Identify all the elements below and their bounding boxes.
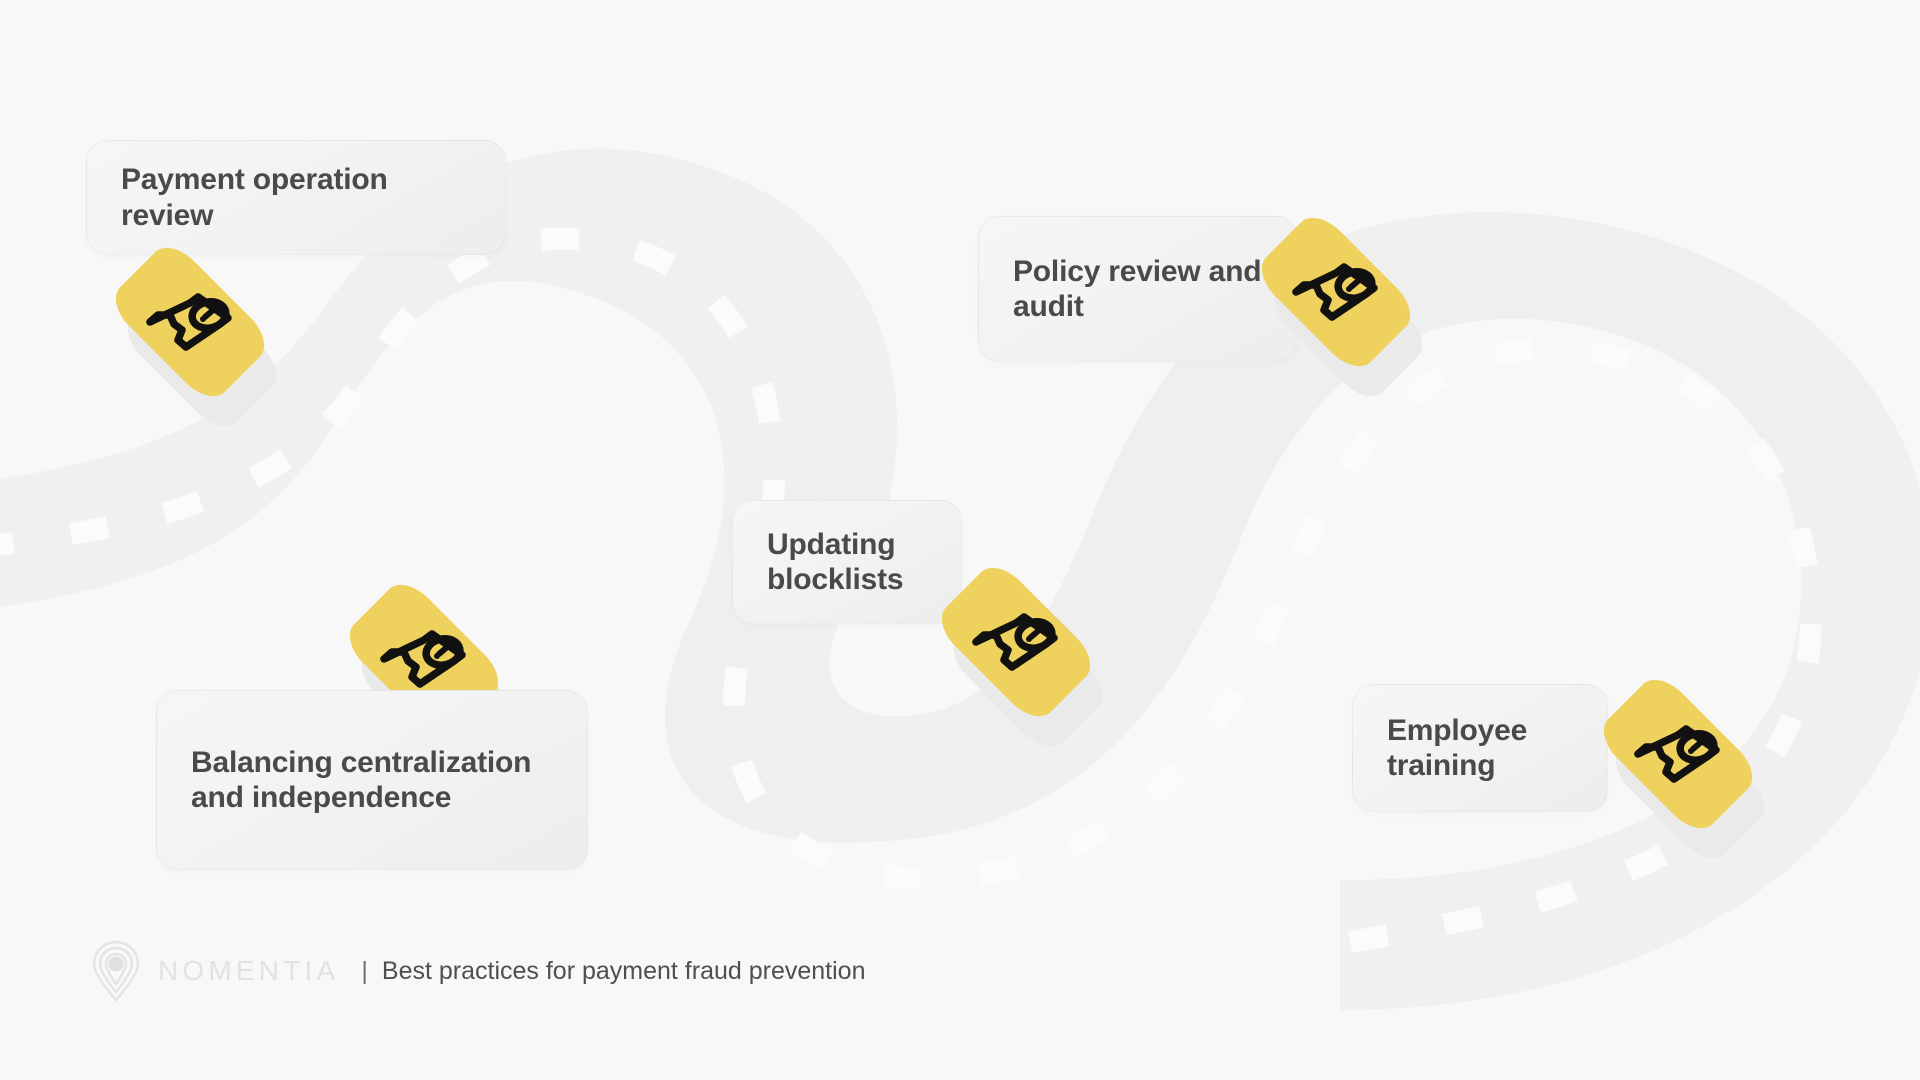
- brand-wordmark: NOMENTIA: [158, 955, 339, 987]
- step-label: Balancing centralization and independenc…: [191, 745, 553, 816]
- step-label: Updating blocklists: [767, 527, 927, 598]
- step-card[interactable]: Payment operation review: [86, 140, 506, 255]
- step-label: Payment operation review: [121, 162, 471, 233]
- footer-separator: |: [361, 957, 368, 986]
- footer-bar: NOMENTIA | Best practices for payment fr…: [88, 938, 865, 1004]
- map-review-glyph: [942, 568, 1090, 716]
- map-review-icon[interactable]: [116, 248, 264, 396]
- step-card[interactable]: Updating blocklists: [732, 500, 962, 624]
- nomentia-pin-logo-icon: [88, 938, 144, 1004]
- step-card[interactable]: Balancing centralization and independenc…: [156, 690, 588, 870]
- step-label: Policy review and audit: [1013, 254, 1263, 325]
- map-review-icon[interactable]: [942, 568, 1090, 716]
- map-review-glyph: [116, 248, 264, 396]
- step-label: Employee training: [1387, 713, 1573, 784]
- footer-caption: Best practices for payment fraud prevent…: [382, 957, 866, 986]
- infographic-canvas: Payment operation review: [0, 0, 1920, 1080]
- map-review-glyph: [1604, 680, 1752, 828]
- map-review-icon[interactable]: [1262, 218, 1410, 366]
- map-review-icon[interactable]: [1604, 680, 1752, 828]
- step-card[interactable]: Employee training: [1352, 684, 1608, 812]
- map-review-glyph: [1262, 218, 1410, 366]
- step-card[interactable]: Policy review and audit: [978, 216, 1298, 362]
